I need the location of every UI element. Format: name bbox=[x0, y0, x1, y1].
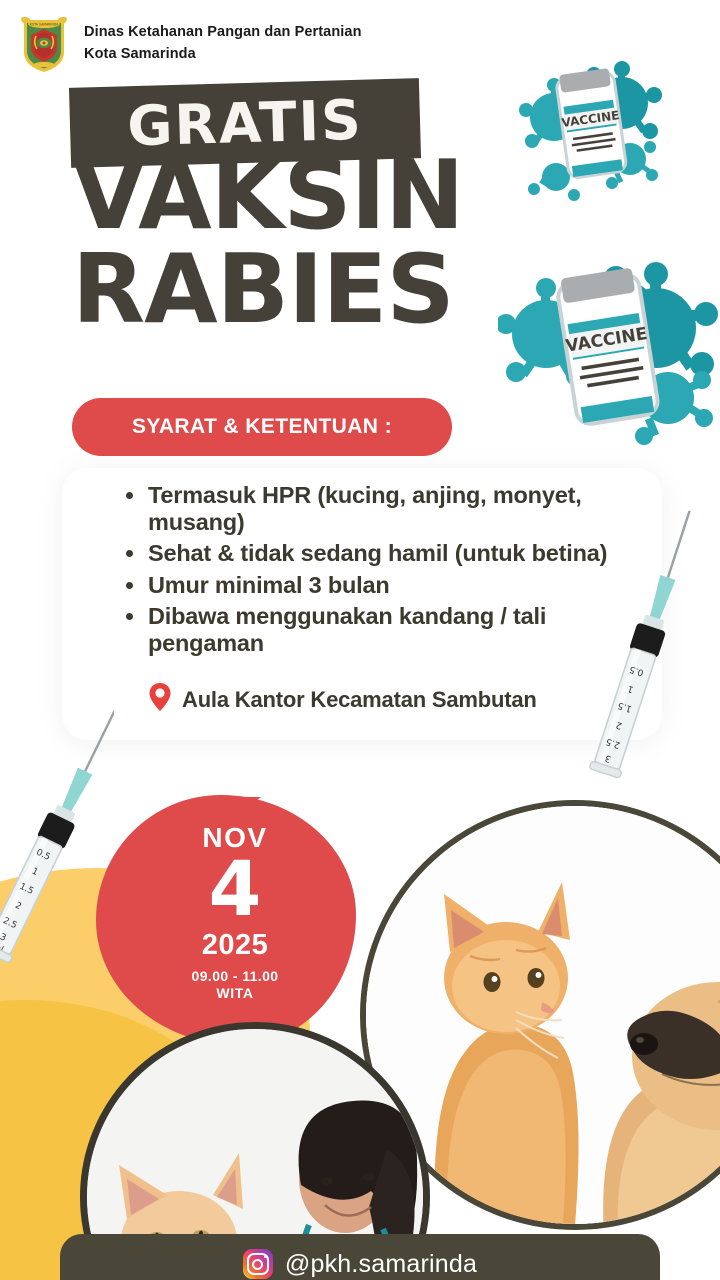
terms-title-badge: SYARAT & KETENTUAN : bbox=[72, 398, 452, 456]
event-year: 2025 bbox=[202, 929, 269, 961]
event-timezone: WITA bbox=[216, 985, 253, 1002]
event-day: 4 bbox=[209, 851, 262, 927]
poster-header: KOTA SAMARINDA Dinas Ketahanan Pangan da… bbox=[14, 12, 362, 74]
list-item: Termasuk HPR (kucing, anjing, monyet, mu… bbox=[120, 482, 640, 535]
list-item: Umur minimal 3 bulan bbox=[120, 572, 640, 599]
terms-list: Termasuk HPR (kucing, anjing, monyet, mu… bbox=[120, 482, 640, 661]
date-badge-content: NOV 4 2025 09.00 - 11.00 WITA bbox=[130, 795, 340, 1025]
gratis-label: GRATIS bbox=[69, 78, 421, 168]
poster-canvas: KOTA SAMARINDA Dinas Ketahanan Pangan da… bbox=[0, 0, 720, 1280]
headline-block: VAKSIN RABIES bbox=[72, 150, 464, 338]
instagram-lens bbox=[252, 1259, 263, 1270]
org-line-2: Kota Samarinda bbox=[84, 43, 362, 65]
samarinda-city-crest-icon: KOTA SAMARINDA bbox=[14, 12, 74, 74]
syringe-icon: 0.5 1 1.5 2 2.5 3 ml bbox=[586, 500, 706, 790]
org-line-1: Dinas Ketahanan Pangan dan Pertanian bbox=[84, 21, 362, 43]
syringe-icon: 0.5 1 1.5 2 2.5 3 ml bbox=[0, 690, 114, 980]
instagram-handle[interactable]: @pkh.samarinda bbox=[285, 1250, 477, 1279]
footer-bar: @pkh.samarinda bbox=[60, 1234, 660, 1280]
event-time: 09.00 - 11.00 bbox=[192, 968, 279, 985]
list-item: Sehat & tidak sedang hamil (untuk betina… bbox=[120, 540, 640, 567]
list-item: Dibawa menggunakan kandang / tali pengam… bbox=[120, 603, 640, 656]
org-name: Dinas Ketahanan Pangan dan Pertanian Kot… bbox=[84, 12, 362, 66]
map-pin-icon bbox=[148, 682, 172, 717]
venue-name: Aula Kantor Kecamatan Sambutan bbox=[182, 687, 537, 713]
vaccine-vial-small-icon: VACCINE bbox=[512, 55, 672, 205]
vaccine-vial-large-icon: VACCINE bbox=[498, 248, 720, 460]
instagram-icon[interactable] bbox=[243, 1249, 273, 1279]
event-date-badge: NOV 4 2025 09.00 - 11.00 WITA bbox=[130, 795, 340, 1025]
svg-text:KOTA SAMARINDA: KOTA SAMARINDA bbox=[30, 23, 59, 27]
headline-line-2: RABIES bbox=[72, 242, 464, 338]
venue-row: Aula Kantor Kecamatan Sambutan bbox=[148, 682, 537, 717]
